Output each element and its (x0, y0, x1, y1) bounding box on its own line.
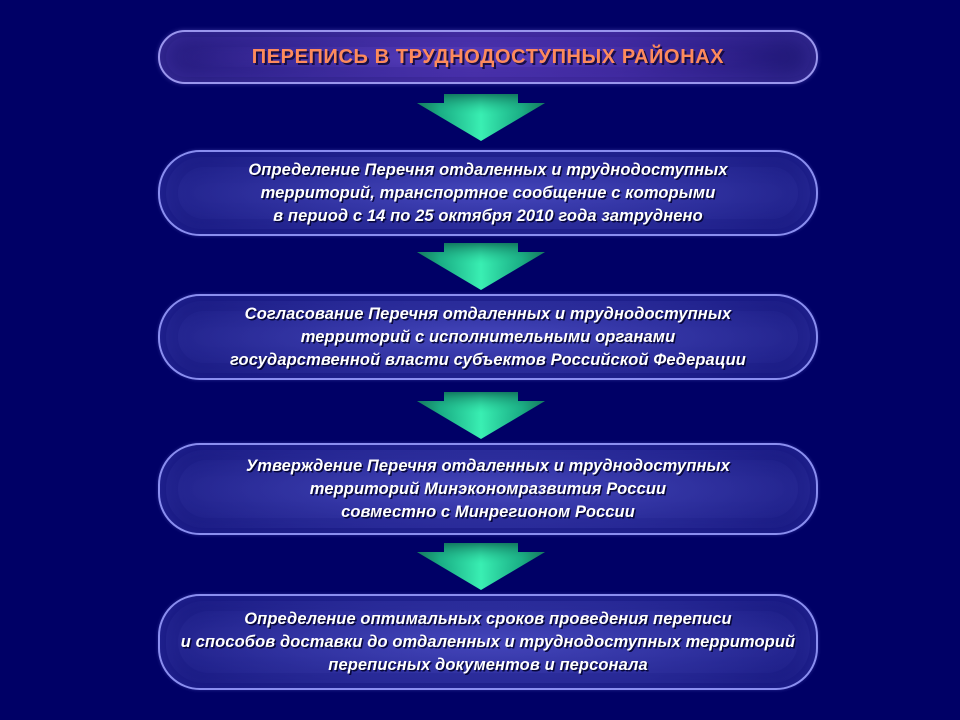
down-arrow-icon (417, 543, 545, 590)
diagram-title-box: ПЕРЕПИСЬ В ТРУДНОДОСТУПНЫХ РАЙОНАХ (158, 30, 818, 84)
flow-step-text: Утверждение Перечня отдаленных и труднод… (228, 455, 748, 524)
page-title: ПЕРЕПИСЬ В ТРУДНОДОСТУПНЫХ РАЙОНАХ (234, 46, 743, 69)
flow-step-text: Согласование Перечня отдаленных и трудно… (212, 303, 764, 372)
down-arrow-icon (417, 392, 545, 439)
flow-step-box: Определение Перечня отдаленных и труднод… (158, 150, 818, 236)
slide-canvas: ПЕРЕПИСЬ В ТРУДНОДОСТУПНЫХ РАЙОНАХ (0, 0, 960, 720)
flow-step-text: Определение Перечня отдаленных и труднод… (230, 159, 745, 228)
down-arrow-icon (417, 94, 545, 141)
flow-step-box: Определение оптимальных сроков проведени… (158, 594, 818, 690)
flow-step-text: Определение оптимальных сроков проведени… (163, 608, 813, 677)
flow-step-box: Согласование Перечня отдаленных и трудно… (158, 294, 818, 380)
down-arrow-icon (417, 243, 545, 290)
flow-step-box: Утверждение Перечня отдаленных и труднод… (158, 443, 818, 535)
